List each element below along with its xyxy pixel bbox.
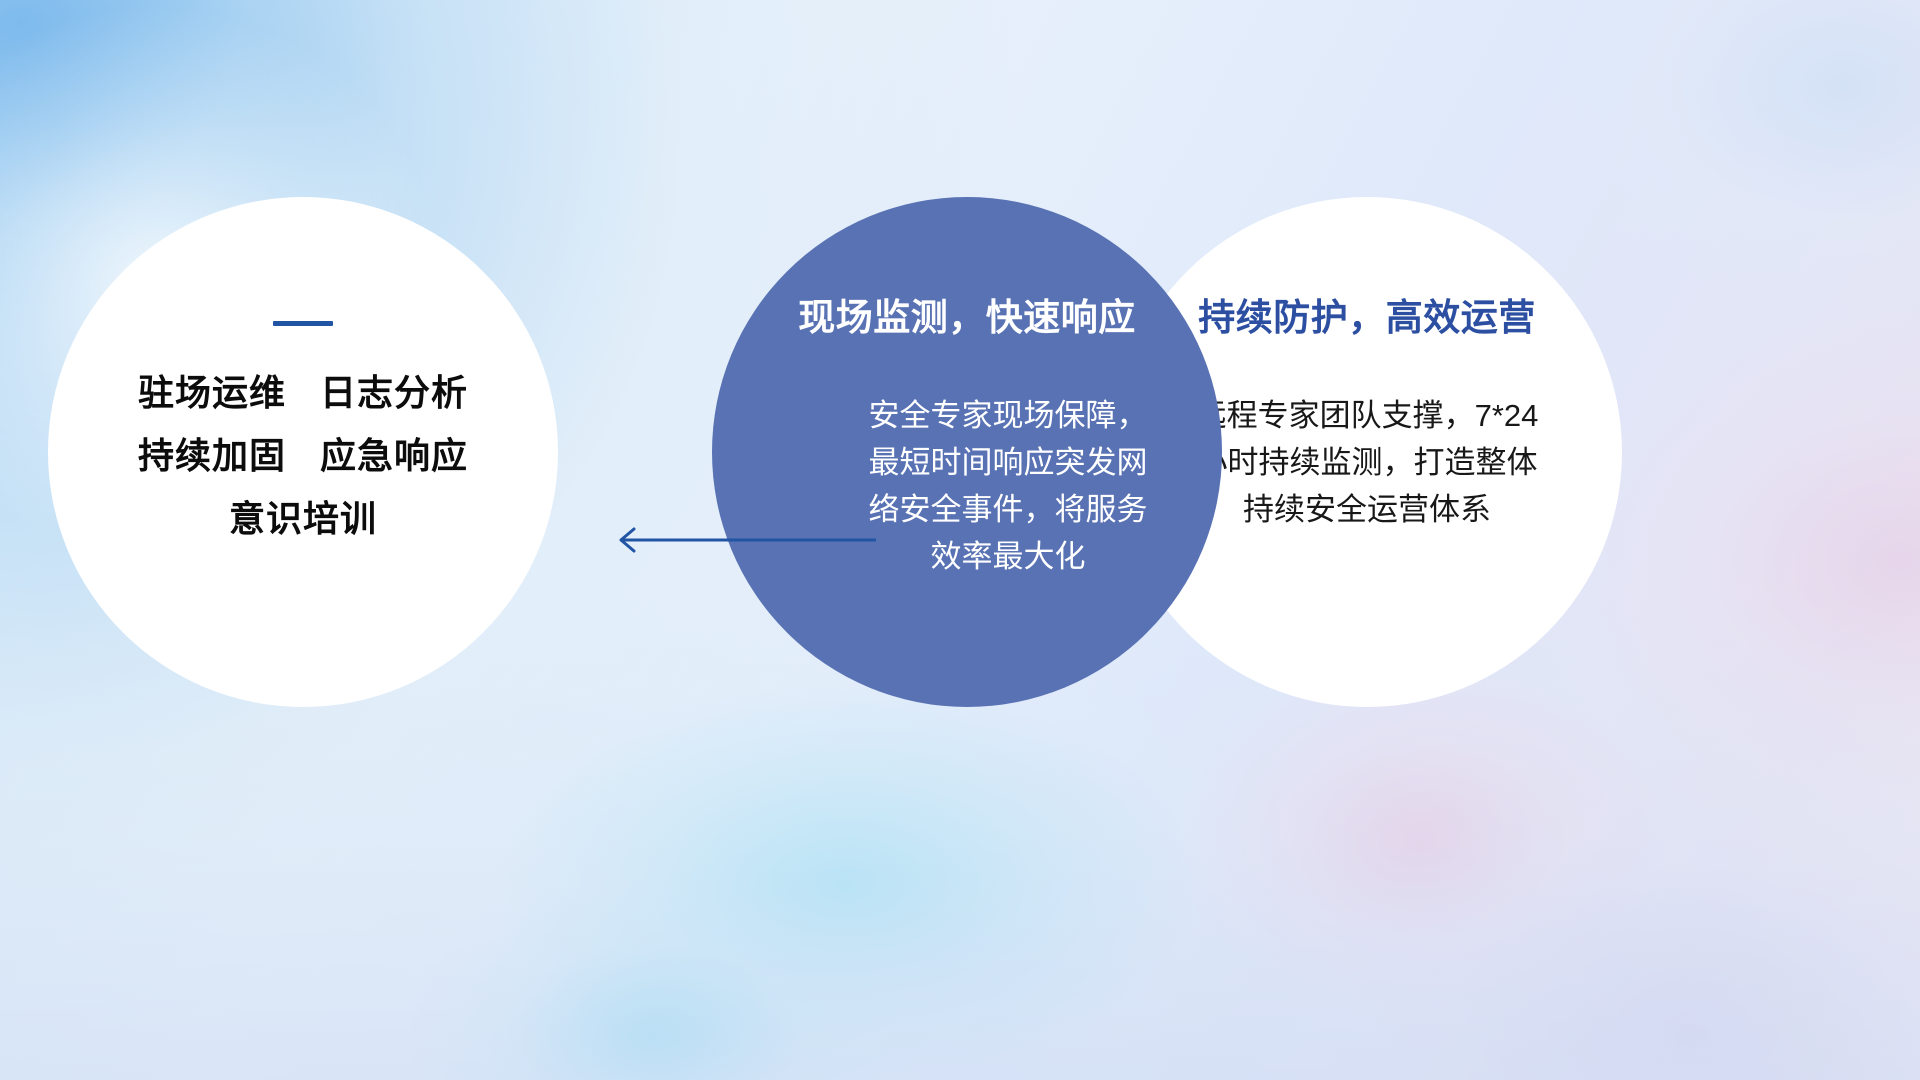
circle-right-title: 持续防护，高效运营: [1198, 297, 1536, 340]
circle-left-line-2: 持续加固应急响应: [138, 437, 468, 476]
circle-right-body-line: 小时持续监测，打造整体: [1167, 439, 1567, 486]
circle-left-term: 驻场运维: [138, 372, 286, 413]
circle-left[interactable]: 驻场运维日志分析 持续加固应急响应 意识培训: [48, 197, 558, 707]
circle-left-term: 应急响应: [320, 435, 468, 476]
circle-center-body-line: 最短时间响应突发网: [843, 439, 1173, 486]
circle-center-body: 安全专家现场保障， 最短时间响应突发网 络安全事件，将服务 效率最大化: [843, 392, 1173, 580]
circle-right-body: 远程专家团队支撑，7*24 小时持续监测，打造整体 持续安全运营体系: [1167, 392, 1567, 533]
circle-left-term: 持续加固: [138, 435, 286, 476]
circle-left-text-group: 驻场运维日志分析 持续加固应急响应 意识培训: [138, 374, 468, 539]
circle-center-body-line: 效率最大化: [843, 533, 1173, 580]
circle-center-body-line: 安全专家现场保障，: [843, 392, 1173, 439]
accent-divider-icon: [273, 321, 333, 326]
circle-right-body-line: 远程专家团队支撑，7*24: [1167, 392, 1567, 439]
arrow-left-icon: [608, 524, 878, 556]
circle-right-body-line: 持续安全运营体系: [1167, 486, 1567, 533]
circle-center-body-line: 络安全事件，将服务: [843, 486, 1173, 533]
circle-center[interactable]: 现场监测，快速响应 安全专家现场保障， 最短时间响应突发网 络安全事件，将服务 …: [712, 197, 1222, 707]
circle-center-title: 现场监测，快速响应: [798, 297, 1136, 340]
circle-left-term: 日志分析: [320, 372, 468, 413]
circle-left-line-1: 驻场运维日志分析: [138, 374, 468, 413]
circle-left-line-3: 意识培训: [229, 500, 377, 539]
slide-canvas: 持续防护，高效运营 远程专家团队支撑，7*24 小时持续监测，打造整体 持续安全…: [0, 0, 1920, 1080]
